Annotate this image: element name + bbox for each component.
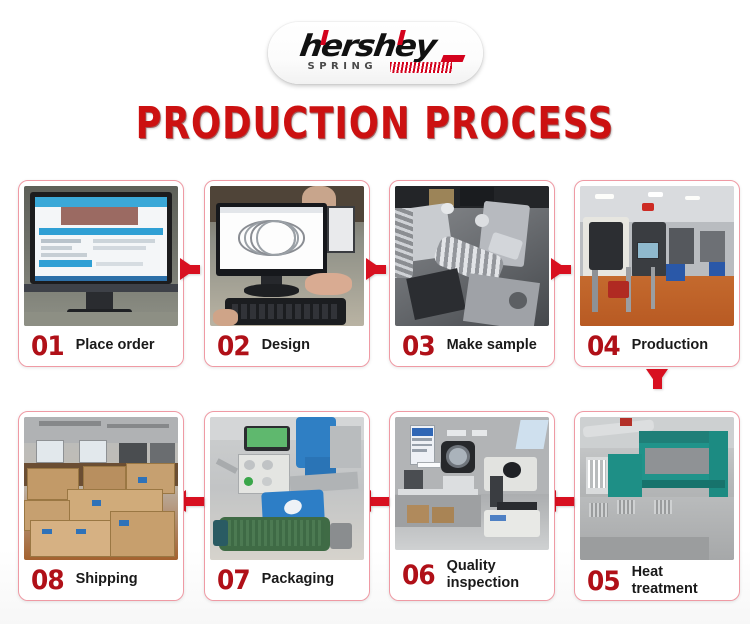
step-title: Design bbox=[262, 337, 310, 354]
step-label-02: 02 Design bbox=[210, 326, 364, 366]
step-photo-production bbox=[580, 186, 734, 326]
step-title: Make sample bbox=[447, 337, 537, 354]
step-label-05: 05 Heat treatment bbox=[580, 560, 734, 601]
step-title: Production bbox=[632, 337, 709, 354]
step-card-04[interactable]: 04 Production bbox=[574, 180, 740, 367]
step-card-03[interactable]: 03 Make sample bbox=[389, 180, 555, 367]
step-card-01[interactable]: 01 Place order bbox=[18, 180, 184, 367]
brand-logo: hershey SPRING bbox=[268, 22, 483, 84]
step-number: 04 bbox=[587, 333, 620, 360]
step-number: 05 bbox=[587, 568, 620, 595]
step-title: Heat treatment bbox=[632, 564, 732, 598]
logo-red-tail-icon bbox=[440, 55, 465, 62]
step-label-07: 07 Packaging bbox=[210, 560, 364, 600]
spring-coil-icon bbox=[390, 62, 452, 73]
step-title: Place order bbox=[76, 337, 155, 354]
step-card-06[interactable]: 06 Quality inspection bbox=[389, 411, 555, 601]
step-title: Shipping bbox=[76, 571, 138, 588]
step-number: 01 bbox=[31, 333, 64, 360]
arrow-04-to-05 bbox=[646, 369, 668, 403]
step-photo-design bbox=[210, 186, 364, 326]
step-label-04: 04 Production bbox=[580, 326, 734, 366]
logo-wordmark: hershey bbox=[297, 31, 437, 63]
step-card-05[interactable]: 05 Heat treatment bbox=[574, 411, 740, 601]
step-number: 06 bbox=[402, 562, 435, 589]
step-photo-heat-treatment bbox=[580, 417, 734, 560]
page-title: PRODUCTION PROCESS bbox=[75, 98, 675, 149]
step-photo-shipping bbox=[24, 417, 178, 560]
step-number: 07 bbox=[217, 567, 250, 594]
step-card-02[interactable]: 02 Design bbox=[204, 180, 370, 367]
step-label-06: 06 Quality inspection bbox=[395, 550, 549, 600]
step-label-01: 01 Place order bbox=[24, 326, 178, 366]
step-card-08[interactable]: 08 Shipping bbox=[18, 411, 184, 601]
step-label-08: 08 Shipping bbox=[24, 560, 178, 600]
step-label-03: 03 Make sample bbox=[395, 326, 549, 366]
step-number: 02 bbox=[217, 333, 250, 360]
step-number: 03 bbox=[402, 333, 435, 360]
step-photo-make-sample bbox=[395, 186, 549, 326]
step-photo-packaging bbox=[210, 417, 364, 560]
step-title: Quality inspection bbox=[447, 558, 520, 592]
step-title: Packaging bbox=[262, 571, 335, 588]
step-photo-place-order bbox=[24, 186, 178, 326]
production-process-infographic: hershey SPRING PRODUCTION PROCESS bbox=[0, 0, 750, 624]
logo-mark: hershey SPRING bbox=[286, 31, 466, 75]
step-photo-quality-inspection bbox=[395, 417, 549, 550]
step-number: 08 bbox=[31, 567, 64, 594]
step-card-07[interactable]: 07 Packaging bbox=[204, 411, 370, 601]
logo-subtitle: SPRING bbox=[308, 61, 378, 72]
